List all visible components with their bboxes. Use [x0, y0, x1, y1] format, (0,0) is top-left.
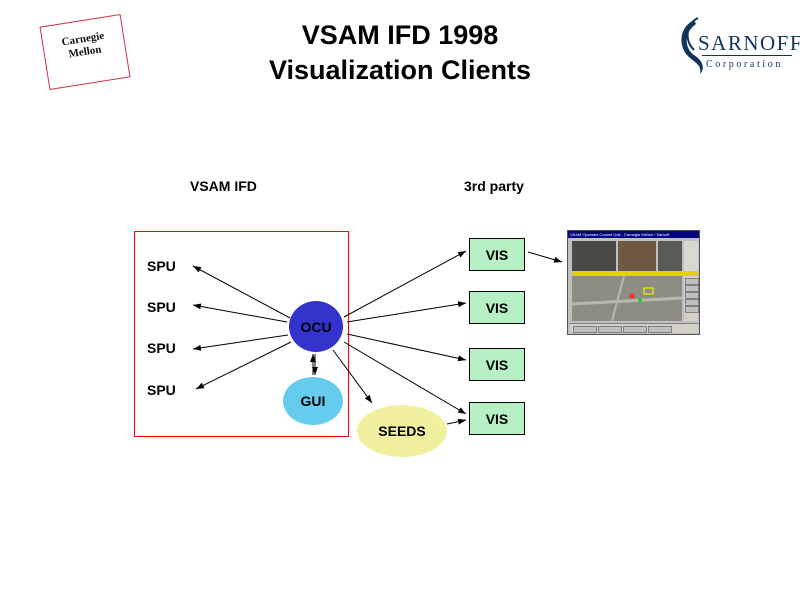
vis-node-1: VIS	[469, 238, 525, 271]
spu-node-1: SPU	[147, 258, 176, 274]
title-line-1: VSAM IFD 1998	[160, 18, 640, 53]
section-label-vsam-ifd: VSAM IFD	[190, 178, 257, 194]
ocu-node: OCU	[289, 301, 343, 352]
section-label-3rd-party: 3rd party	[464, 178, 524, 194]
thumbnail-footer-button-1	[573, 326, 597, 333]
thumbnail-side-button-1	[685, 278, 699, 285]
thumbnail-side-button-5	[685, 306, 699, 313]
ocu-screenshot-thumbnail: VSAM Operator Control Unit - Carnegie Me…	[567, 230, 700, 335]
page-title: VSAM IFD 1998 Visualization Clients	[160, 18, 640, 87]
thumbnail-footer-button-4	[648, 326, 672, 333]
thumbnail-highlight-bar	[572, 272, 698, 275]
vis-node-4: VIS	[469, 402, 525, 435]
title-line-2: Visualization Clients	[160, 53, 640, 88]
thumbnail-video-panel-2	[618, 241, 656, 271]
vis-node-2: VIS	[469, 291, 525, 324]
thumbnail-side-button-3	[685, 292, 699, 299]
thumbnail-footer-button-2	[598, 326, 622, 333]
carnegie-mellon-logo-text: Carnegie Mellon	[43, 27, 126, 64]
sarnoff-logo-subtitle: Corporation	[706, 59, 783, 70]
thumbnail-video-panel-4	[684, 241, 698, 271]
slide-canvas: Carnegie Mellon SARNOFF Corporation VSAM…	[0, 0, 800, 600]
spu-node-2: SPU	[147, 299, 176, 315]
carnegie-mellon-logo: Carnegie Mellon	[39, 14, 130, 90]
thumbnail-side-button-4	[685, 299, 699, 306]
thumbnail-side-toolbar	[684, 276, 698, 321]
sarnoff-logo: SARNOFF Corporation	[672, 14, 792, 80]
thumbnail-map-view	[572, 276, 682, 321]
thumbnail-status-bar	[570, 323, 698, 333]
thumbnail-video-panel-1	[572, 241, 616, 271]
thumbnail-map-graphics	[572, 276, 682, 321]
thumbnail-title-text: VSAM Operator Control Unit - Carnegie Me…	[570, 231, 669, 238]
spu-node-4: SPU	[147, 382, 176, 398]
spu-node-3: SPU	[147, 340, 176, 356]
vis-node-3: VIS	[469, 348, 525, 381]
gui-node: GUI	[283, 377, 343, 425]
thumbnail-footer-button-3	[623, 326, 647, 333]
sarnoff-logo-name: SARNOFF	[698, 31, 800, 56]
thumbnail-side-button-2	[685, 285, 699, 292]
thumbnail-video-panel-3	[658, 241, 682, 271]
seeds-node: SEEDS	[357, 405, 447, 457]
